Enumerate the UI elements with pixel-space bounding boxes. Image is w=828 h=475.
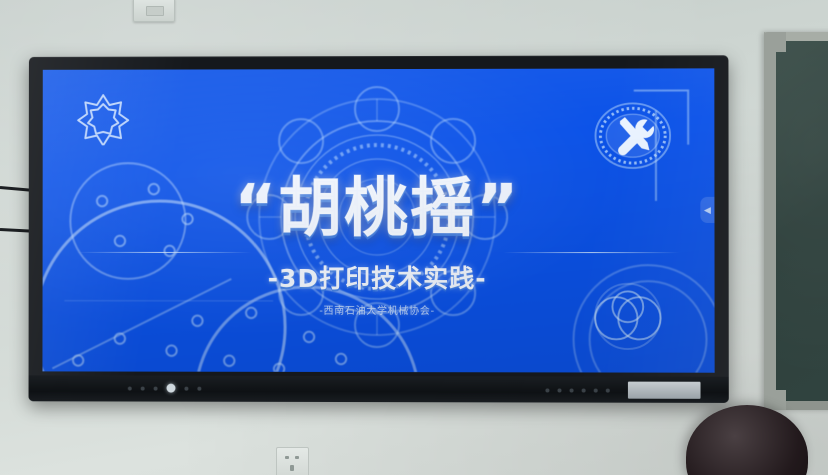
power-button[interactable] <box>167 384 176 393</box>
panel-port-3[interactable] <box>570 388 574 392</box>
display-screen[interactable]: “胡桃摇” -3D打印技术实践- -西南石油大学机械协会- ◀ <box>42 68 714 372</box>
panel-control-buttons-left[interactable] <box>128 384 202 393</box>
panel-button-5[interactable] <box>197 386 201 390</box>
slide-organization: -西南石油大学机械协会- <box>43 302 715 318</box>
panel-button-3[interactable] <box>154 386 158 390</box>
wall-power-outlet <box>276 447 309 475</box>
screen-side-toolbar-handle[interactable]: ◀ <box>700 197 714 223</box>
divider-line-left <box>76 252 251 253</box>
outlet-slot-right <box>295 456 299 459</box>
brand-sticker <box>628 382 701 399</box>
panel-button-1[interactable] <box>128 386 132 390</box>
panel-port-1[interactable] <box>545 388 549 392</box>
slide-subtitle: -3D打印技术实践- <box>43 259 715 295</box>
interactive-flat-panel: “胡桃摇” -3D打印技术实践- -西南石油大学机械协会- ◀ <box>29 55 729 403</box>
light-switch-rocker[interactable] <box>146 6 164 16</box>
panel-bottom-bezel <box>29 375 729 403</box>
chalkboard-surface <box>776 41 828 401</box>
classroom-scene: “胡桃摇” -3D打印技术实践- -西南石油大学机械协会- ◀ <box>0 0 828 475</box>
panel-control-buttons-right[interactable] <box>545 388 609 392</box>
panel-port-4[interactable] <box>582 389 586 393</box>
panel-button-2[interactable] <box>141 386 145 390</box>
panel-port-5[interactable] <box>594 389 598 393</box>
wrench-screwdriver-icon <box>594 97 673 175</box>
page-title: “胡桃摇” <box>43 177 715 241</box>
wall-switch-plate[interactable] <box>133 0 175 22</box>
panel-port-6[interactable] <box>606 389 610 393</box>
outlet-slot-ground <box>290 465 294 471</box>
panel-port-2[interactable] <box>557 388 561 392</box>
panel-button-4[interactable] <box>184 386 188 390</box>
chalkboard-corner-top-left <box>764 32 786 52</box>
chalkboard <box>764 32 828 410</box>
slide-title-block: “胡桃摇” -3D打印技术实践- -西南石油大学机械协会- <box>43 177 715 318</box>
outlet-slot-left <box>285 456 289 459</box>
star-gear-icon <box>76 92 130 146</box>
title-divider <box>43 252 715 253</box>
divider-line-right <box>503 252 680 253</box>
